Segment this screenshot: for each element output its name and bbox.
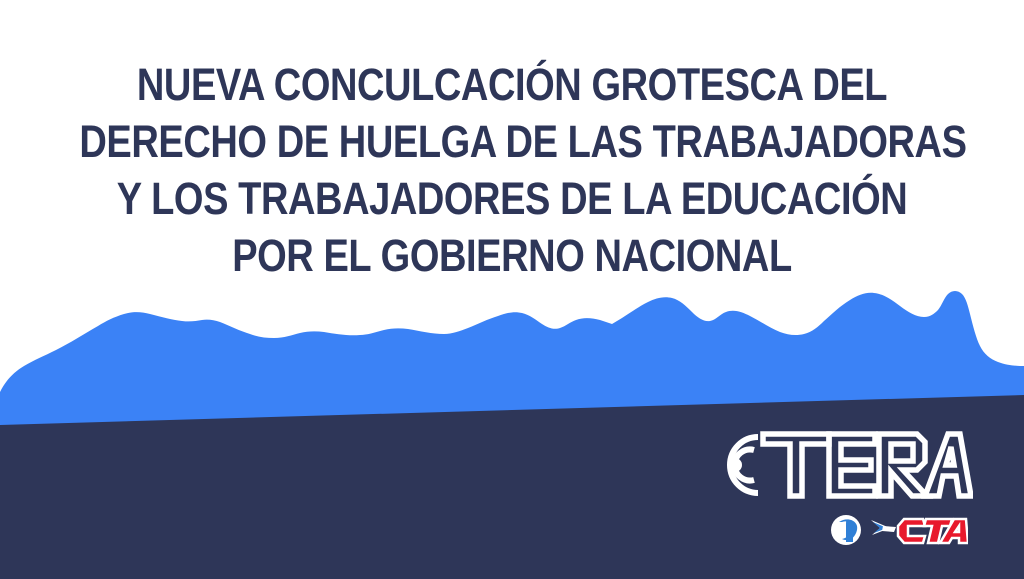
cta-logo [828,508,968,552]
title-line-4: POR EL GOBIERNO NACIONAL [79,227,944,284]
cta-wordmark [898,519,968,543]
title-line-2: DERECHO DE HUELGA DE LAS TRABAJADORAS [79,113,944,170]
ctera-c-center-dot [728,458,742,472]
ctera-wordmark-tera [763,434,971,496]
ctera-logo [703,424,973,506]
poster-canvas: NUEVA CONCULCACIÓN GROTESCA DEL DERECHO … [0,0,1024,579]
cta-bird-icon [871,520,896,535]
title-line-1: NUEVA CONCULCACIÓN GROTESCA DEL [79,56,944,113]
title-line-3: Y LOS TRABAJADORES DE LA EDUCACIÓN [79,170,944,227]
page-title: NUEVA CONCULCACIÓN GROTESCA DEL DERECHO … [0,56,1024,284]
cta-emblem-icon [831,515,861,545]
